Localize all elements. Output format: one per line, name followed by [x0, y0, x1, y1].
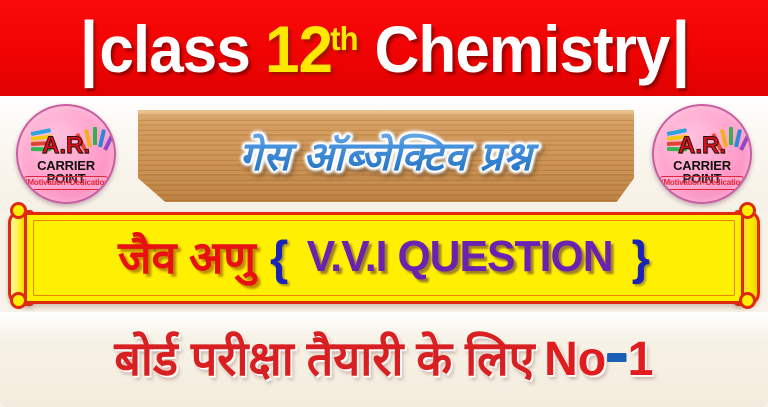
- logo-left-initials: A.R.: [18, 134, 114, 158]
- header-banner: | class 12 th Chemistry |: [0, 0, 768, 96]
- scroll-spiral-top-left: [10, 202, 27, 219]
- footer-rank-prefix: No: [544, 333, 606, 386]
- footer-tagline: बोर्ड परीक्षा तैयारी के लिए: [114, 336, 534, 384]
- header-title: | class 12 th Chemistry |: [77, 12, 691, 84]
- topic-scroll: जैव अणु { V.V.I QUESTION }: [6, 208, 762, 312]
- logo-right-tagline: (Motivation+Dedication): [660, 176, 744, 190]
- logo-left-tagline: (Motivation+Dedication): [24, 176, 108, 190]
- scroll-spiral-bottom-left: [10, 292, 27, 309]
- logo-right: A.R. CARRIER POINT (Motivation+Dedicatio…: [652, 104, 752, 204]
- logo-left: A.R. CARRIER POINT (Motivation+Dedicatio…: [16, 104, 116, 204]
- logo-right-initials: A.R.: [654, 134, 750, 158]
- footer-rank-number: 1: [628, 333, 654, 386]
- scroll-brace-close: }: [632, 234, 650, 287]
- footer-rank: No1: [544, 336, 653, 384]
- footer-rank-dash: [607, 353, 626, 362]
- middle-band: A.R. CARRIER POINT (Motivation+Dedicatio…: [0, 96, 768, 212]
- scroll-topic-name: जैव अणु: [118, 235, 256, 286]
- thumbnail-root: | class 12 th Chemistry | A.R. CARRIER P…: [0, 0, 768, 407]
- scroll-spiral-bottom-right: [739, 292, 756, 309]
- footer-text-group: बोर्ड परीक्षा तैयारी के लिए No1: [114, 336, 653, 384]
- wood-plank-text: गेस ऑब्जेक्टिव प्रश्न: [138, 110, 634, 202]
- scroll-spiral-top-right: [739, 202, 756, 219]
- wood-plank: गेस ऑब्जेक्टिव प्रश्न: [138, 110, 634, 202]
- footer-section: बोर्ड परीक्षा तैयारी के लिए No1: [0, 312, 768, 407]
- scroll-text-group: जैव अणु { V.V.I QUESTION }: [36, 208, 732, 312]
- scroll-brace-open: {: [270, 234, 288, 287]
- title-grade-suffix: th: [330, 22, 357, 55]
- scroll-question-label: V.V.I QUESTION: [307, 235, 613, 285]
- title-subject: Chemistry: [374, 16, 669, 82]
- title-grade-number: 12: [265, 16, 332, 82]
- title-right-bar: |: [671, 12, 689, 84]
- title-class-word: class: [99, 16, 250, 82]
- title-left-bar: |: [79, 12, 97, 84]
